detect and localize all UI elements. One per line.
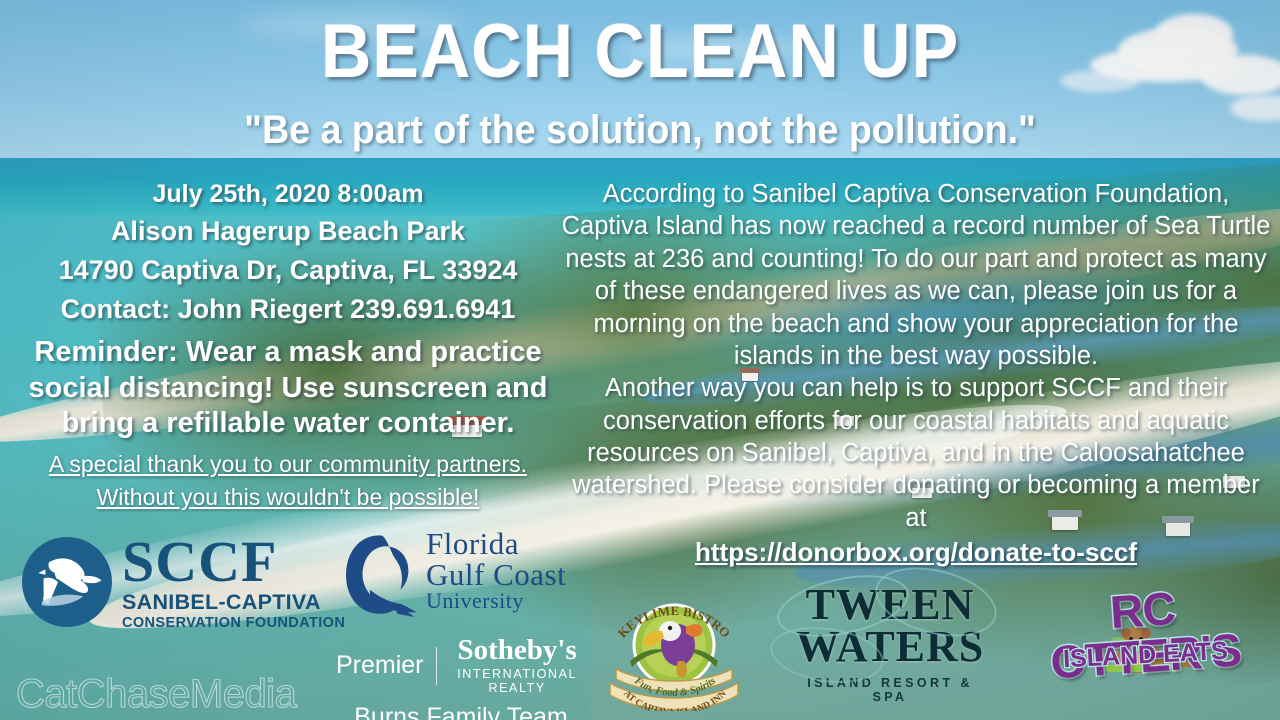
logo-keylime-bistro[interactable]: KEYLIME BISTRO Fun, Food & Spirits AT CA…	[600, 583, 748, 711]
watermark-catchasemedia: CatChaseMedia	[16, 672, 296, 717]
sothebys-row: Premier Sotheby's INTERNATIONAL REALTY	[336, 636, 586, 695]
logo-sothebys[interactable]: Premier Sotheby's INTERNATIONAL REALTY B…	[336, 636, 586, 720]
burns-family-team: Burns Family Team	[336, 703, 586, 720]
event-address: 14790 Captiva Dr, Captiva, FL 33924	[28, 251, 548, 290]
donate-link[interactable]: https://donorbox.org/donate-to-sccf	[560, 536, 1272, 569]
logo-fgcu[interactable]: Florida Gulf Coast University	[338, 528, 566, 626]
sothebys-name: Sotheby's	[448, 636, 586, 665]
fgcu-wordmark: Florida Gulf Coast University	[426, 528, 566, 612]
event-contact: Contact: John Riegert 239.691.6941	[28, 290, 548, 329]
eagle-q-icon	[338, 528, 418, 626]
sccf-abbreviation: SCCF	[122, 533, 345, 591]
vertical-divider	[436, 647, 437, 685]
fgcu-line-1: Florida	[426, 528, 566, 559]
keylime-badge-icon: KEYLIME BISTRO Fun, Food & Spirits AT CA…	[600, 583, 748, 711]
beach-cleanup-flyer: BEACH CLEAN UP "Be a part of the solutio…	[0, 0, 1280, 720]
description-block: According to Sanibel Captiva Conservatio…	[560, 178, 1272, 569]
sothebys-name-block: Sotheby's INTERNATIONAL REALTY	[448, 636, 586, 695]
logo-tween-waters[interactable]: TWEEN WATERS ISLAND RESORT & SPA	[790, 584, 990, 704]
event-details-block: July 25th, 2020 8:00am Alison Hagerup Be…	[28, 178, 548, 441]
logo-sccf[interactable]: SCCF SANIBEL-CAPTIVA CONSERVATION FOUNDA…	[22, 533, 345, 630]
thank-you-line-1: A special thank you to our community par…	[28, 448, 548, 481]
tagline: "Be a part of the solution, not the poll…	[38, 108, 1241, 152]
description-paragraph-1: According to Sanibel Captiva Conservatio…	[560, 178, 1272, 372]
sccf-wordmark: SCCF SANIBEL-CAPTIVA CONSERVATION FOUNDA…	[122, 533, 345, 630]
event-datetime: July 25th, 2020 8:00am	[28, 178, 548, 212]
sccf-line-1: SANIBEL-CAPTIVA	[122, 592, 345, 614]
logo-rc-otters[interactable]: RC OTTER'S ISLAND EATS	[1024, 585, 1264, 705]
fgcu-line-3: University	[426, 590, 566, 612]
event-venue: Alison Hagerup Beach Park	[28, 212, 548, 251]
sccf-line-2: CONSERVATION FOUNDATION	[122, 616, 345, 631]
fgcu-line-2: Gulf Coast	[426, 559, 566, 590]
sothebys-subtitle: INTERNATIONAL REALTY	[448, 667, 586, 695]
description-paragraph-2: Another way you can help is to support S…	[560, 372, 1272, 534]
thank-you-note: A special thank you to our community par…	[28, 448, 548, 513]
page-title: BEACH CLEAN UP	[51, 14, 1229, 90]
event-reminder: Reminder: Wear a mask and practice socia…	[28, 335, 548, 441]
thank-you-line-2: Without you this wouldn't be possible!	[28, 481, 548, 514]
sothebys-premier: Premier	[336, 651, 424, 680]
flying-bird-icon	[22, 537, 112, 627]
